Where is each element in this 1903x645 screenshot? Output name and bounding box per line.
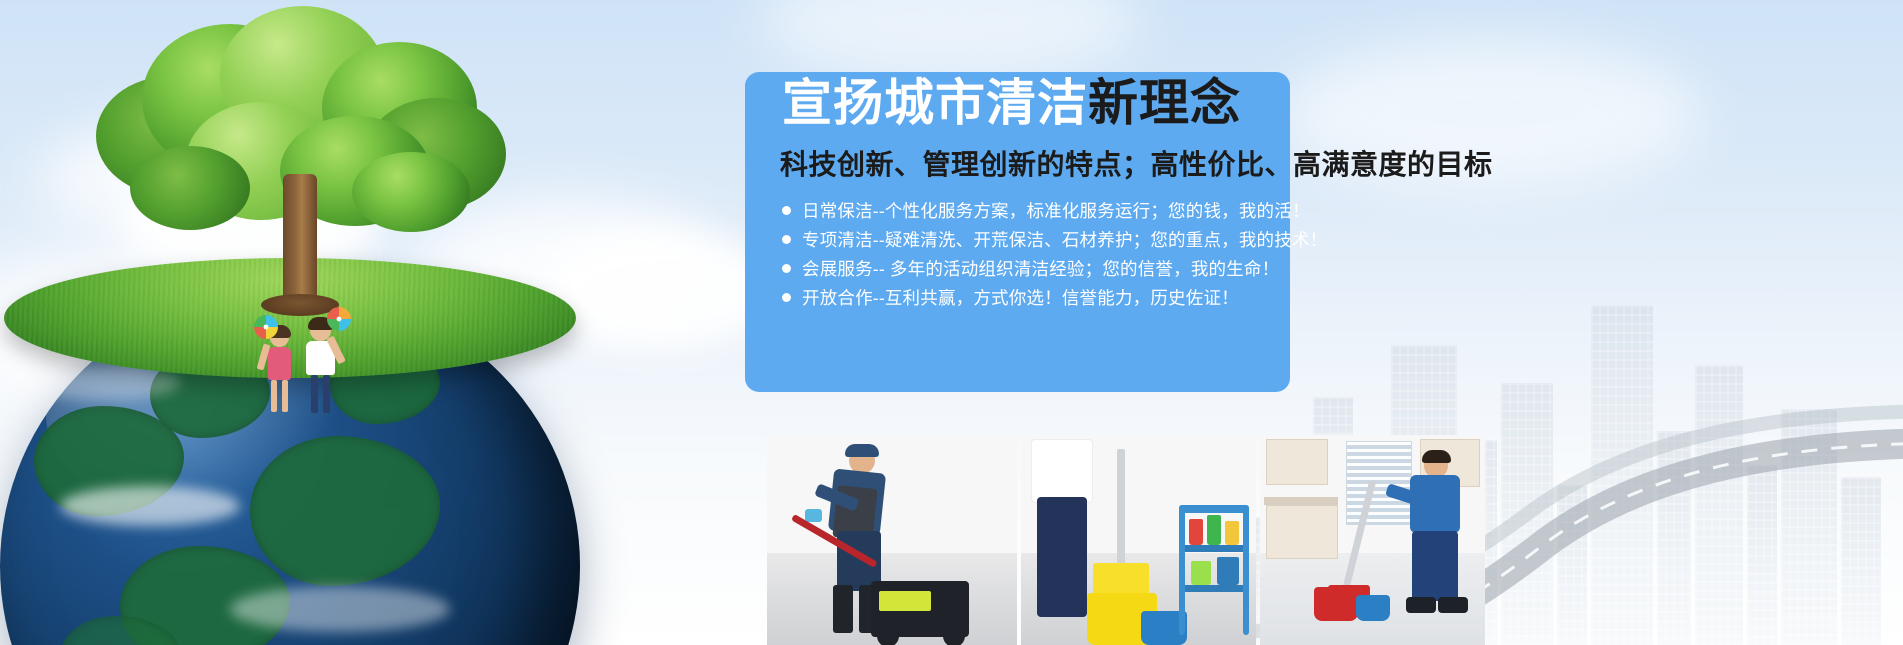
subtitle: 科技创新、管理创新的特点；高性价比、高满意度的目标: [780, 143, 1493, 183]
cart-shelf: [1181, 585, 1247, 592]
worker-boot: [833, 585, 853, 633]
tree-foliage: [130, 146, 250, 230]
cart-post: [1243, 505, 1249, 635]
list-item-label: 会展服务-- 多年的活动组织清洁经验；您的信誉，我的生命！: [802, 256, 1279, 281]
page-title: 宣扬城市清洁新理念: [782, 78, 1241, 128]
cleaning-cart: [1179, 505, 1249, 513]
bullet-dot-icon: [782, 293, 791, 302]
spray-bottle: [1189, 519, 1203, 545]
benefit-list: 日常保洁--个性化服务方案，标准化服务运行；您的钱，我的活！ 专项清洁--疑难清…: [782, 196, 1342, 312]
cart-post: [1179, 505, 1185, 635]
list-item-label: 专项清洁--疑难清洗、开荒保洁、石材养护；您的重点，我的技术！: [802, 227, 1327, 252]
cleaning-supply: [1191, 561, 1211, 585]
headline-highlight: 宣扬城市清洁: [782, 75, 1088, 131]
worker-shoe: [1438, 597, 1468, 613]
child-figure: [262, 328, 296, 414]
worker-figure: [1388, 453, 1478, 637]
worker-hair: [1422, 450, 1451, 463]
child-leg: [271, 380, 277, 412]
worker-cap: [845, 444, 879, 457]
worker-glove: [805, 509, 822, 522]
kitchen-base-cabinet: [1266, 505, 1338, 559]
headline-rest: 新理念: [1088, 75, 1241, 131]
bullet-dot-icon: [782, 206, 791, 215]
spray-bottle: [1225, 521, 1239, 545]
tree-foliage: [352, 152, 470, 232]
promo-banner: 宣扬城市清洁新理念 科技创新、管理创新的特点；高性价比、高满意度的目标 日常保洁…: [0, 0, 1903, 645]
child-leg: [311, 375, 318, 413]
scrubber-wheel: [943, 625, 965, 645]
child-leg: [282, 380, 288, 412]
photo-kitchen-mopping: [1260, 435, 1485, 645]
kitchen-counter: [1264, 497, 1338, 505]
list-item-label: 日常保洁--个性化服务方案，标准化服务运行；您的钱，我的活！: [802, 198, 1310, 223]
photo-mop-bucket-and-cart: [1021, 435, 1256, 645]
scrubber-control-panel: [879, 591, 931, 611]
mop-bucket-blue: [1356, 595, 1390, 621]
list-item: 开放合作--互利共赢，方式你选！信誉能力，历史佐证！: [782, 283, 1342, 311]
tree-trunk: [283, 174, 317, 312]
photo-floor-scrubber: [767, 435, 1017, 645]
list-item: 日常保洁--个性化服务方案，标准化服务运行；您的钱，我的活！: [782, 196, 1342, 224]
cloud-decoration: [760, 0, 1140, 80]
child-leg: [323, 375, 330, 413]
uniform-jacket: [1031, 439, 1093, 503]
list-item-label: 开放合作--互利共赢，方式你选！信誉能力，历史佐证！: [802, 285, 1239, 310]
bullet-dot-icon: [782, 235, 791, 244]
list-item: 专项清洁--疑难清洗、开荒保洁、石材养护；您的重点，我的技术！: [782, 225, 1342, 253]
photo-strip: [767, 435, 1567, 645]
scrubber-wheel: [877, 625, 899, 645]
uniform-trousers: [1037, 497, 1087, 617]
mop-bucket-red: [1314, 587, 1358, 621]
mop-handle: [1117, 449, 1125, 569]
worker-shoe: [1406, 597, 1436, 613]
pinwheel-icon: [326, 306, 352, 332]
child-figure: [300, 320, 340, 416]
spray-bottle: [1207, 515, 1221, 545]
pinwheel-icon: [253, 314, 279, 340]
earth-globe-illustration: [0, 118, 590, 645]
list-item: 会展服务-- 多年的活动组织清洁经验；您的信誉，我的生命！: [782, 254, 1342, 282]
cleaning-supply: [1217, 557, 1239, 585]
worker-pants: [1412, 531, 1458, 601]
cart-shelf: [1181, 545, 1247, 552]
bullet-dot-icon: [782, 264, 791, 273]
child-torso: [268, 347, 291, 380]
globe-cloud: [60, 486, 240, 526]
kitchen-cabinet: [1266, 439, 1328, 485]
landmass: [250, 436, 440, 586]
globe-cloud: [230, 586, 450, 632]
tree-illustration: [90, 6, 510, 336]
